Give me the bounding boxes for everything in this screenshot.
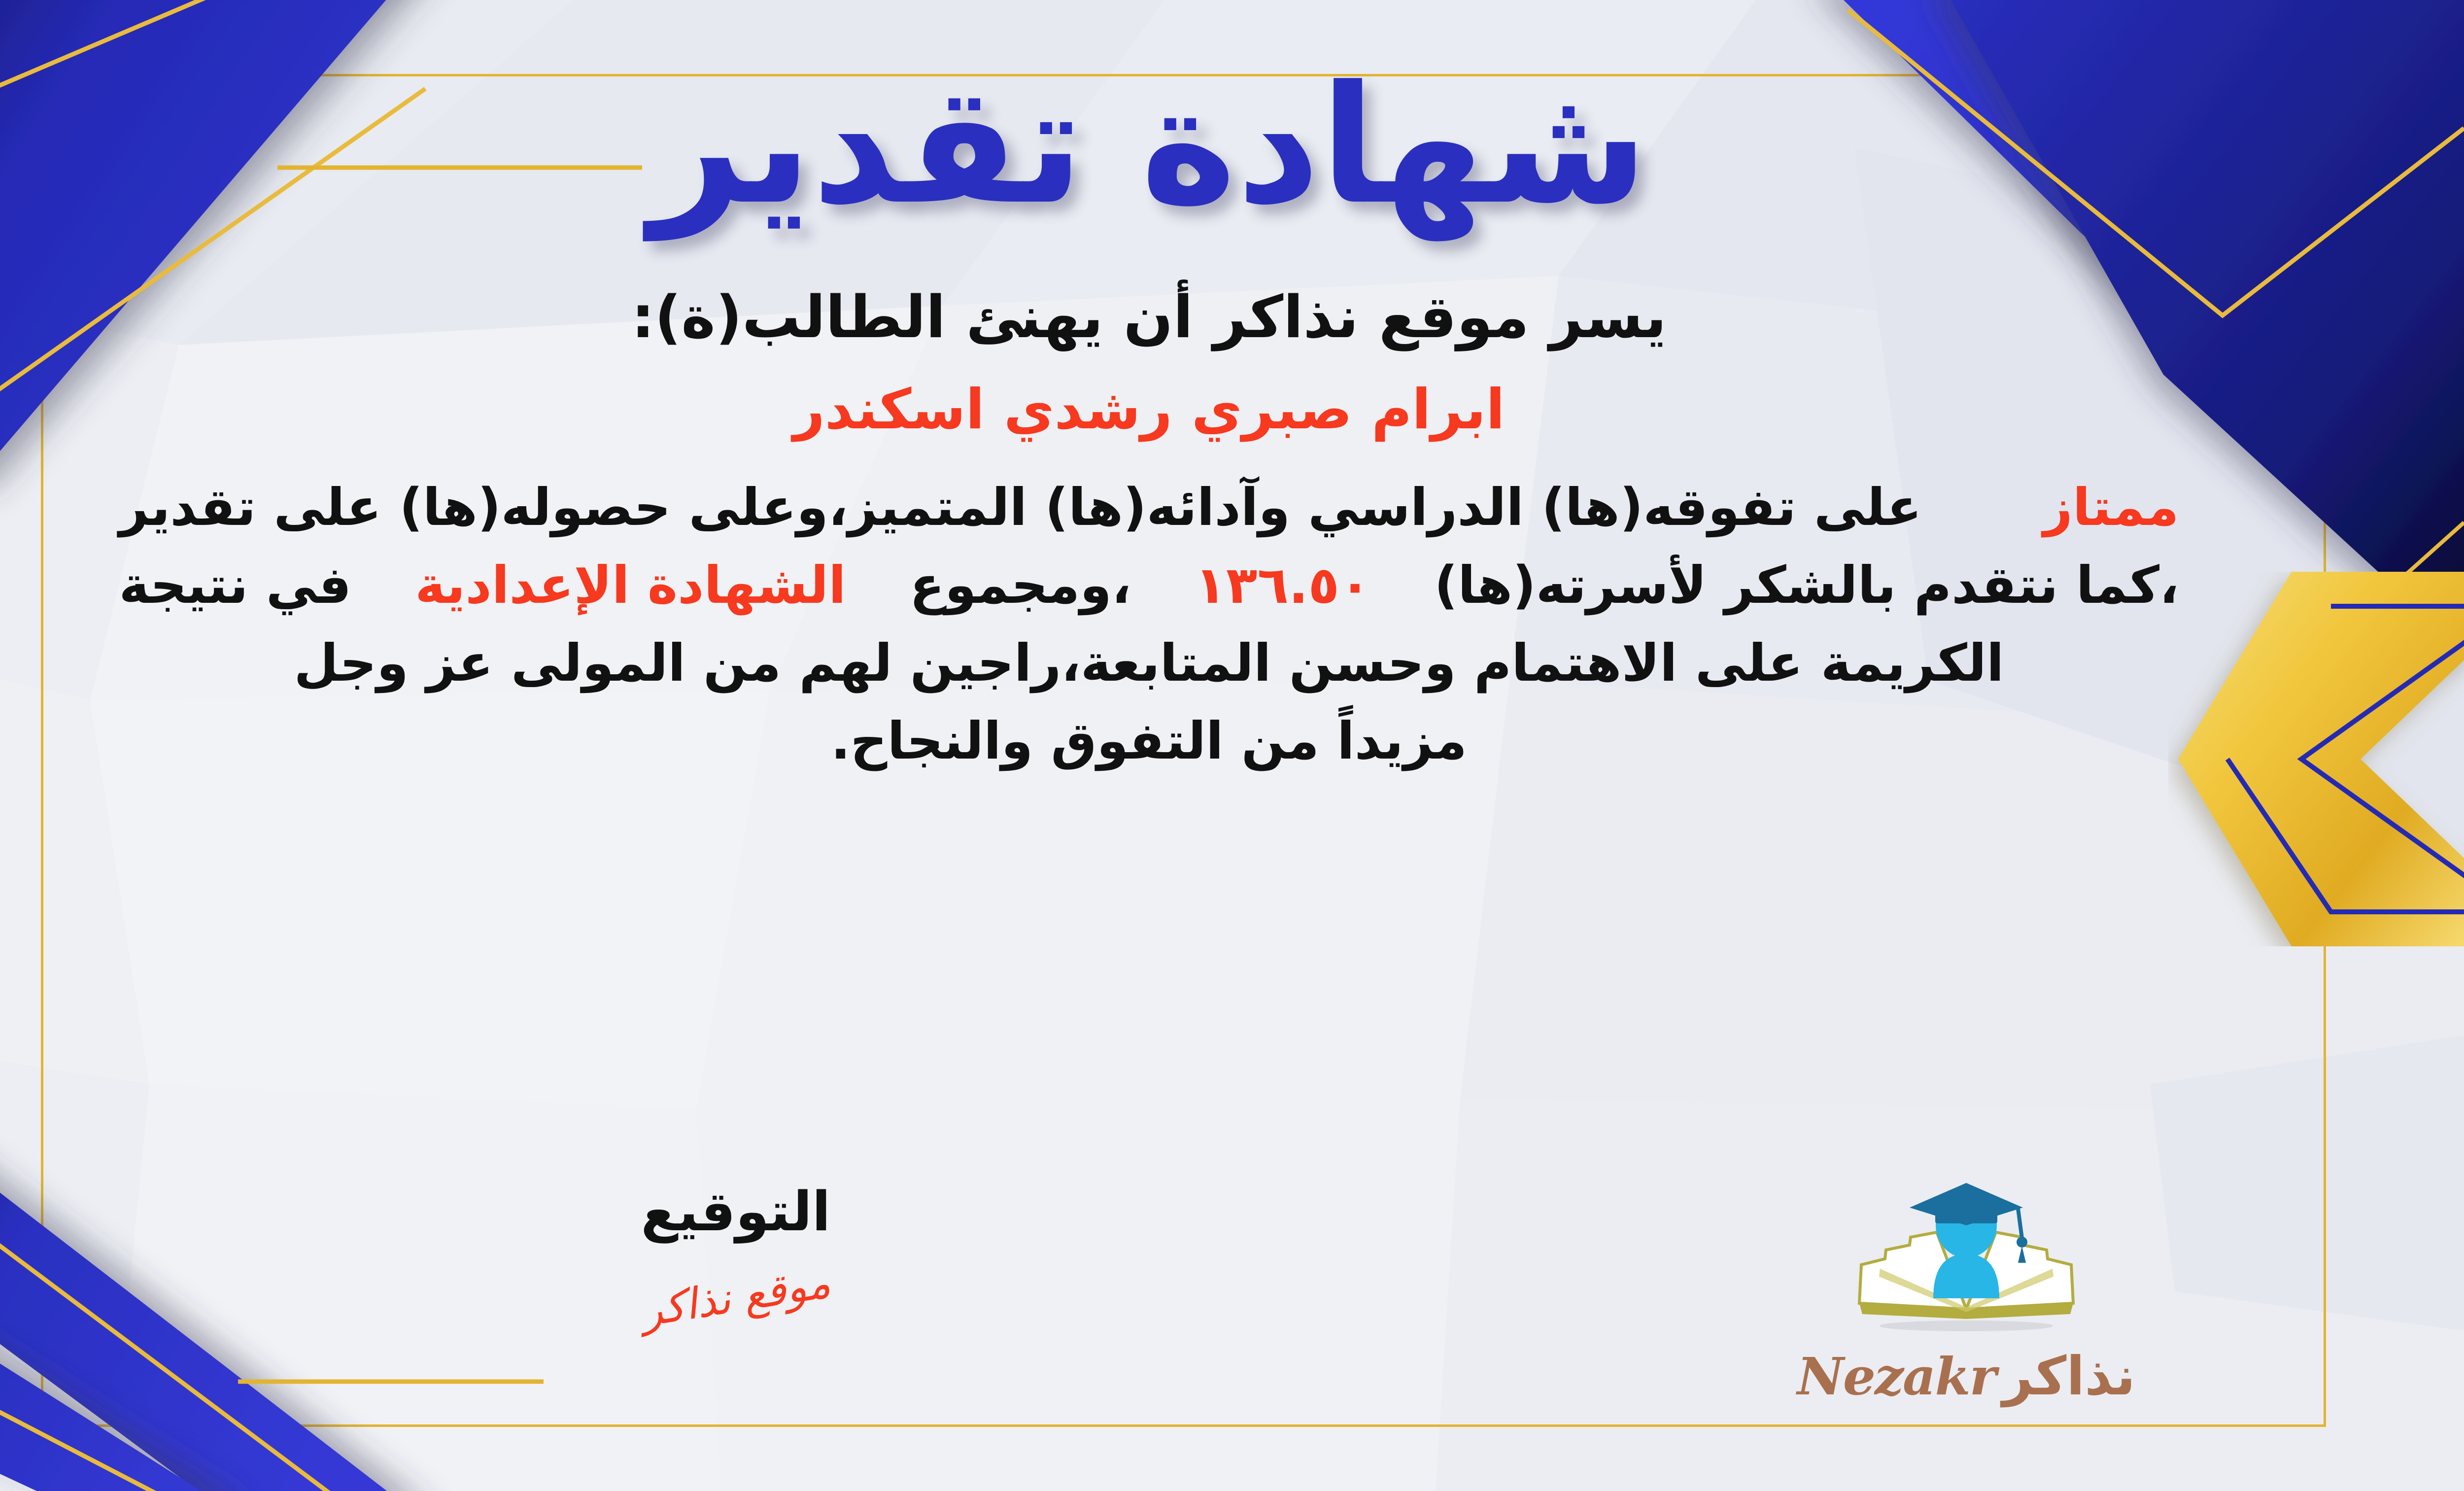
gold-chevron-decoration — [2168, 572, 2464, 946]
certificate-title-wrap: شهادة تقدير — [0, 64, 2464, 227]
body-line-4: مزيداً من التفوق والنجاح. — [119, 702, 2179, 780]
body-line-2-mid: ،ومجموع — [910, 546, 1131, 624]
signature-block: التوقيع موقع نذاكر — [563, 1180, 908, 1322]
signature-label: التوقيع — [641, 1180, 831, 1243]
graduate-book-icon — [1850, 1180, 2082, 1343]
certificate-body: ممتاز على تفوقه(ها) الدراسي وآدائه(ها) ا… — [119, 468, 2179, 780]
brand-logo: نذاكر Nezakr — [1745, 1180, 2188, 1407]
signature-script: موقع نذاكر — [638, 1258, 834, 1336]
grade-value: ممتاز — [2043, 468, 2179, 546]
body-line-1: ممتاز على تفوقه(ها) الدراسي وآدائه(ها) ا… — [119, 468, 2179, 546]
brand-name-latin: Nezakr — [1797, 1346, 1996, 1407]
body-line-2-suffix: ،كما نتقدم بالشكر لأسرته(ها) — [1435, 546, 2179, 624]
page-title: شهادة تقدير — [0, 64, 2464, 227]
certificate-type: الشهادة الإعدادية — [415, 546, 846, 624]
student-name: ابرام صبري رشدي اسكندر — [793, 377, 1505, 443]
certificate-footer: نذاكر Nezakr التوقيع موقع نذاكر — [0, 1180, 2464, 1407]
body-line-2: ،كما نتقدم بالشكر لأسرته(ها) ١٣٦.٥٠ ،ومج… — [119, 546, 2179, 624]
total-score: ١٣٦.٥٠ — [1195, 546, 1371, 624]
body-line-3: الكريمة على الاهتمام وحسن المتابعة،راجين… — [119, 624, 2179, 702]
body-line-2-prefix: في نتيجة — [119, 546, 352, 624]
certificate-page: شهادة تقدير يسر موقع نذاكر أن يهنئ الطال… — [0, 0, 2464, 1491]
brand-name-arabic: نذاكر — [2002, 1346, 2135, 1407]
body-line-1-text: على تفوقه(ها) الدراسي وآدائه(ها) المتميز… — [119, 468, 1922, 546]
brand-wordmark: نذاكر Nezakr — [1797, 1346, 2135, 1407]
intro-text: يسر موقع نذاكر أن يهنئ الطالب(ة): — [631, 281, 1667, 354]
